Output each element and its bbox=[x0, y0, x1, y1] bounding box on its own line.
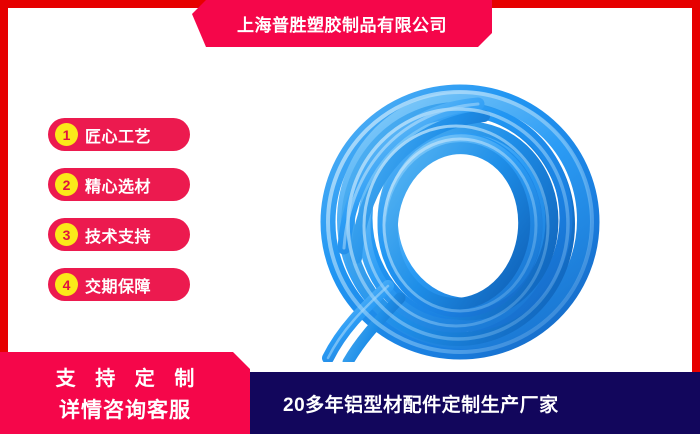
frame-border-right bbox=[692, 0, 700, 372]
promo-banner: 上海普胜塑胶制品有限公司 1 匠心工艺 2 精心选材 3 技术支持 4 交期保障 bbox=[0, 0, 700, 434]
feature-number-badge: 1 bbox=[55, 123, 78, 146]
feature-pill-4[interactable]: 4 交期保障 bbox=[48, 268, 190, 301]
feature-number-badge: 4 bbox=[55, 273, 78, 296]
customization-cta-block[interactable]: 支 持 定 制 详情咨询客服 bbox=[0, 352, 250, 434]
feature-label: 精心选材 bbox=[85, 173, 151, 197]
feature-pill-3[interactable]: 3 技术支持 bbox=[48, 218, 190, 251]
feature-list: 1 匠心工艺 2 精心选材 3 技术支持 4 交期保障 bbox=[48, 118, 190, 318]
company-name-text: 上海普胜塑胶制品有限公司 bbox=[237, 11, 447, 36]
feature-number-badge: 3 bbox=[55, 223, 78, 246]
feature-label: 技术支持 bbox=[85, 223, 151, 247]
cta-secondary-text: 详情咨询客服 bbox=[59, 394, 191, 424]
feature-pill-1[interactable]: 1 匠心工艺 bbox=[48, 118, 190, 151]
frame-border-left bbox=[0, 0, 8, 372]
cta-primary-text: 支 持 定 制 bbox=[49, 362, 202, 391]
product-image-blue-coiled-tubing bbox=[292, 72, 632, 362]
feature-label: 交期保障 bbox=[85, 273, 151, 297]
feature-number-badge: 2 bbox=[55, 173, 78, 196]
tagline-bar: 20多年铝型材配件定制生产厂家 bbox=[250, 372, 700, 434]
company-name-banner: 上海普胜塑胶制品有限公司 bbox=[192, 0, 492, 47]
feature-label: 匠心工艺 bbox=[85, 123, 151, 147]
feature-pill-2[interactable]: 2 精心选材 bbox=[48, 168, 190, 201]
tagline-text: 20多年铝型材配件定制生产厂家 bbox=[283, 390, 559, 417]
